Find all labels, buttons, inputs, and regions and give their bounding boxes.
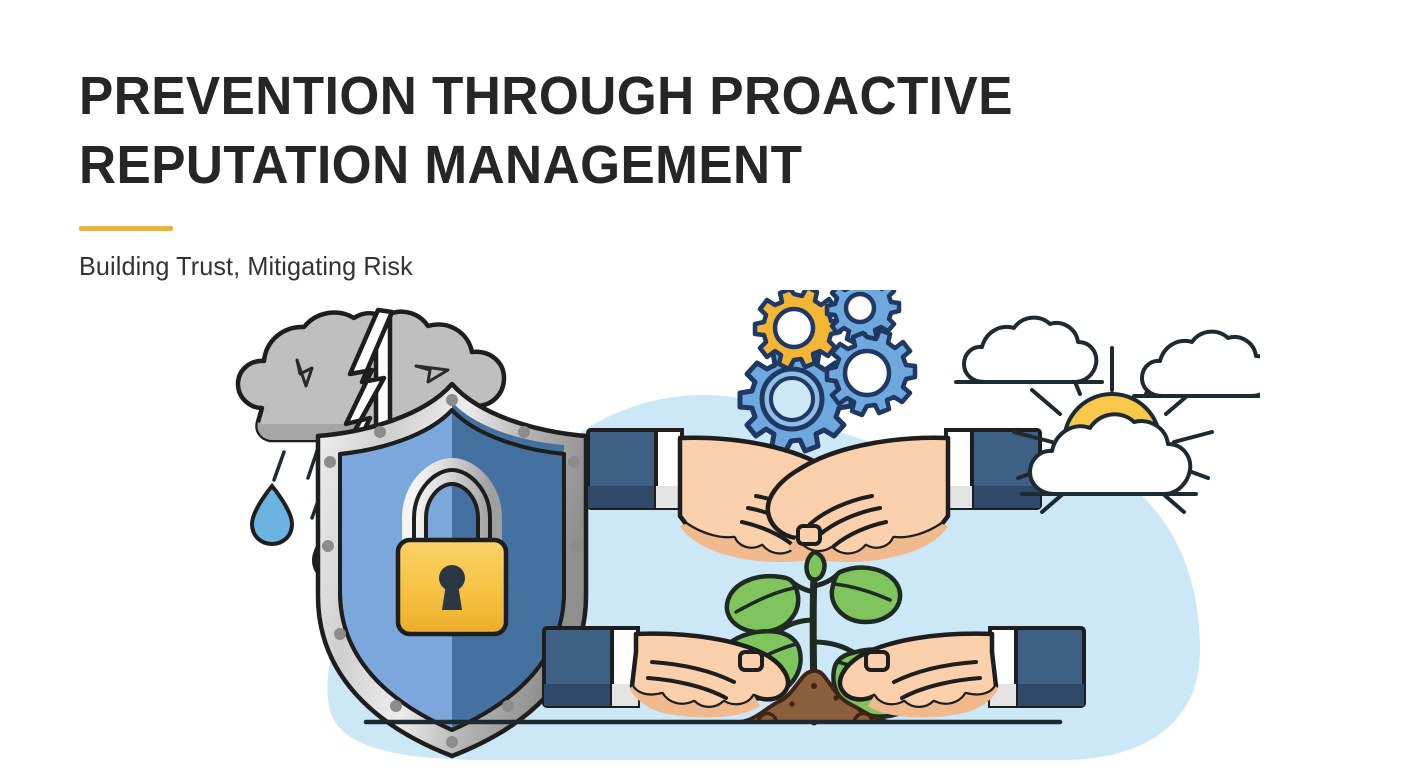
slide-canvas: PREVENTION THROUGH PROACTIVE REPUTATION … xyxy=(0,0,1408,768)
page-subtitle: Building Trust, Mitigating Risk xyxy=(79,251,1098,282)
illustration-reputation-protection-growth xyxy=(200,290,1260,760)
gear-cluster-icon xyxy=(740,290,915,452)
header-block: PREVENTION THROUGH PROACTIVE REPUTATION … xyxy=(79,62,1129,282)
page-title: PREVENTION THROUGH PROACTIVE REPUTATION … xyxy=(79,62,1077,200)
gear-medium-blue-right xyxy=(827,330,915,415)
gear-amber xyxy=(755,290,840,369)
accent-bar-divider xyxy=(79,226,173,231)
